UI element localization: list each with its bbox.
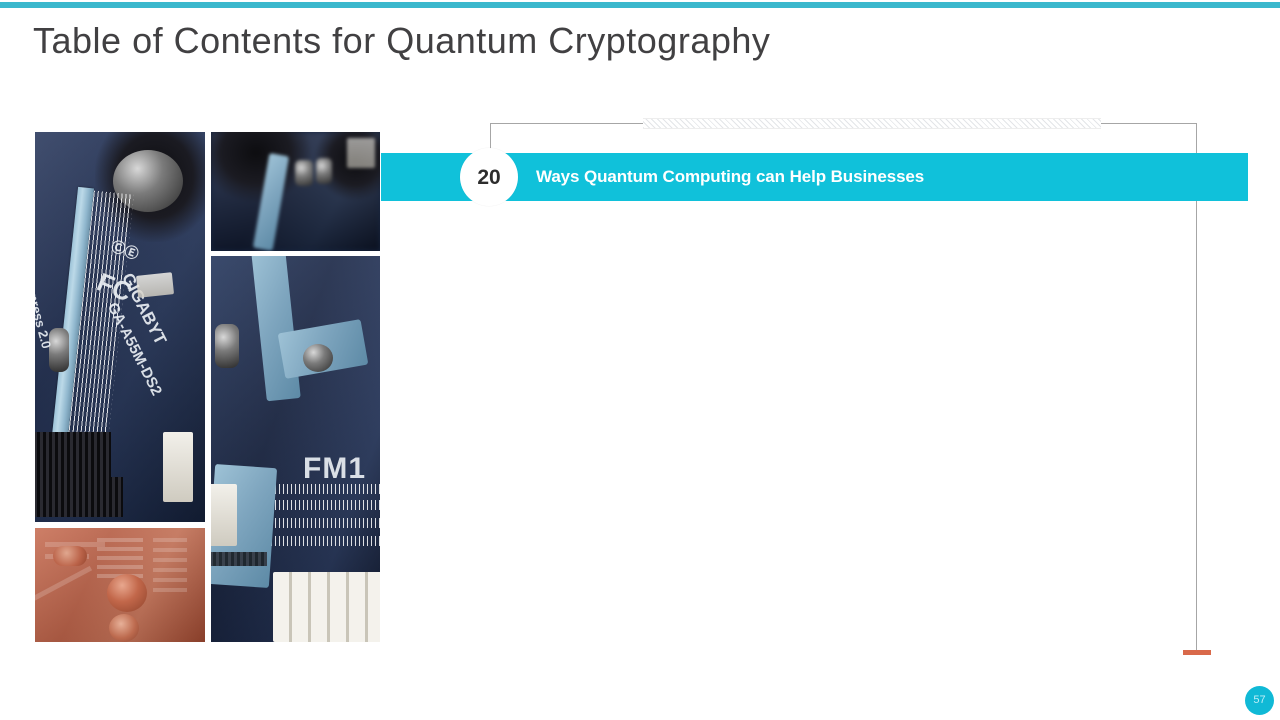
bracket-left-mask [487,152,495,657]
page-title: Table of Contents for Quantum Cryptograp… [33,17,770,65]
hatched-band [643,118,1101,129]
collage-image-cpu-socket-fm1: FM1 [211,256,380,642]
image-collage: PCI Express 2.0 ⒸⒺ FC GIGABYT GA-A55M-DS… [35,132,380,642]
silkscreen-fm1: FM1 [303,452,366,486]
top-accent-strip [0,2,1280,8]
toc-entry-number-badge: 20 [460,148,518,206]
collage-image-motherboard-pci-slot: PCI Express 2.0 ⒸⒺ FC GIGABYT GA-A55M-DS… [35,132,205,522]
collage-image-motherboard-orange [35,528,205,642]
bracket-end-tick [1183,650,1211,655]
page-number: 57 [1253,695,1265,706]
toc-entry-label: Ways Quantum Computing can Help Business… [536,153,924,201]
collage-image-motherboard-components [211,132,380,251]
page-number-badge: 57 [1245,686,1274,715]
toc-entry-number: 20 [477,167,500,188]
content-bracket-outline [490,123,1197,653]
